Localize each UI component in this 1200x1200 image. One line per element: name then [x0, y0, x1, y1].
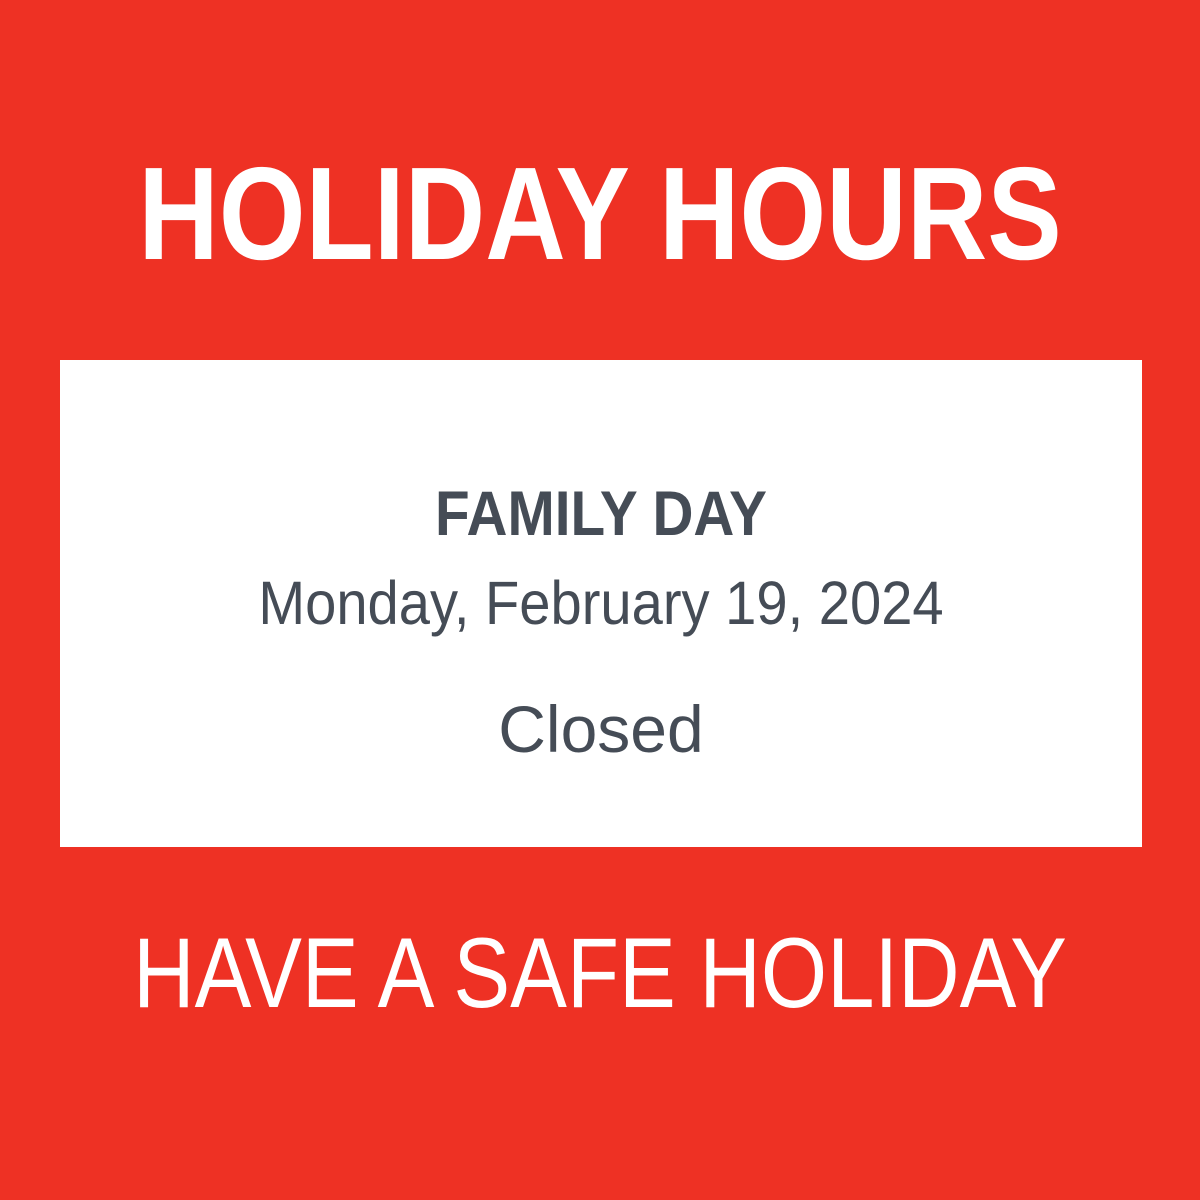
holiday-hours-poster: HOLIDAY HOURS FAMILY DAY Monday, Februar…: [0, 0, 1200, 1200]
holiday-info-body: FAMILY DAY Monday, February 19, 2024 Clo…: [60, 360, 1142, 847]
holiday-name: FAMILY DAY: [114, 482, 1088, 546]
holiday-date: Monday, February 19, 2024: [103, 572, 1098, 634]
status-badge: Closed: [60, 696, 1142, 762]
page-title: HOLIDAY HOURS: [93, 146, 1107, 282]
holiday-info-card: FAMILY DAY Monday, February 19, 2024 Clo…: [60, 360, 1142, 847]
closing-message: HAVE A SAFE HOLIDAY: [84, 922, 1116, 1022]
